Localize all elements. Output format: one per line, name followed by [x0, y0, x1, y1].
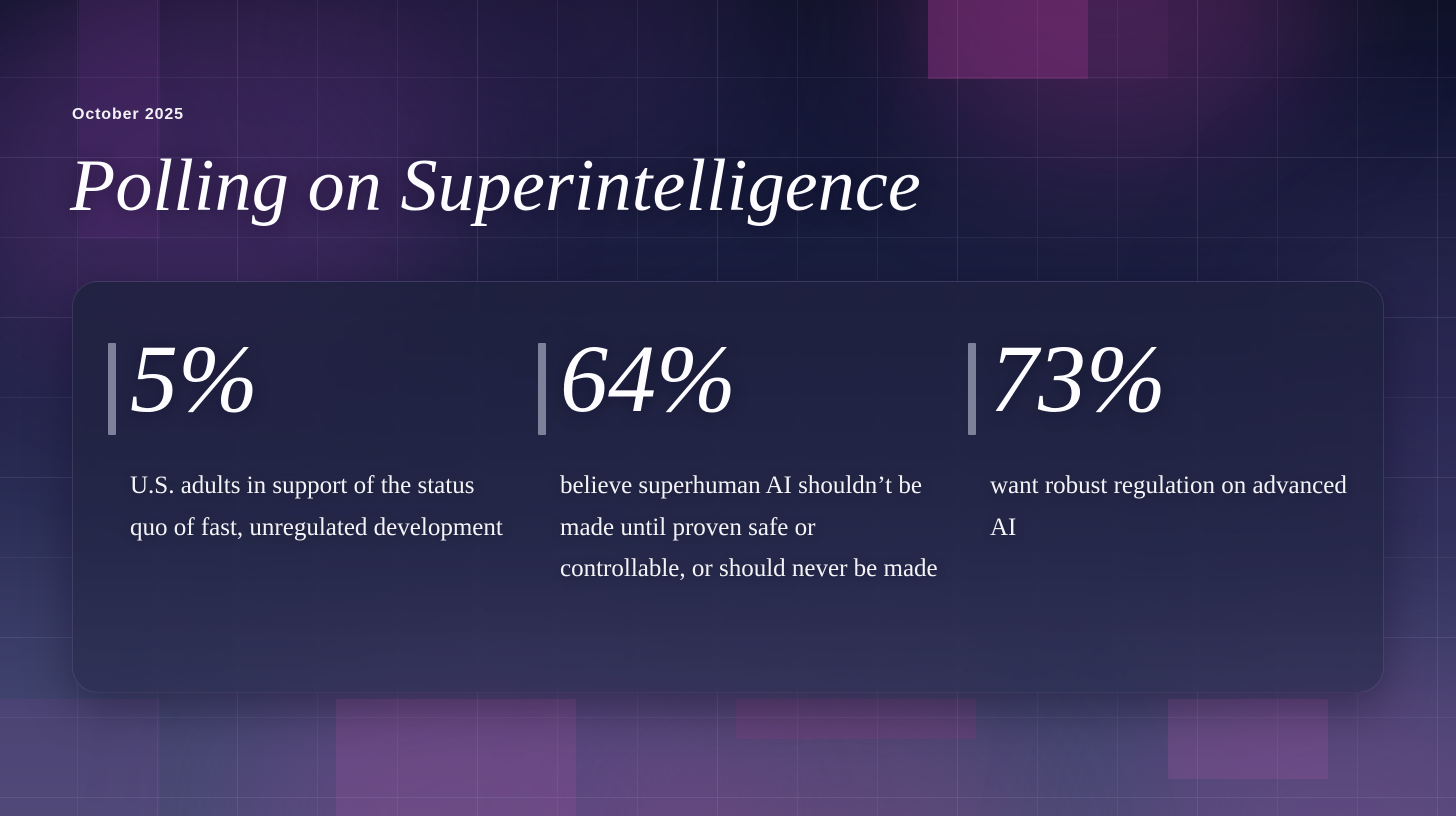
slide-content: October 2025 Polling on Superintelligenc…	[0, 0, 1456, 816]
stat-figure-row: 64%	[538, 333, 968, 435]
date-eyebrow: October 2025	[72, 106, 184, 124]
stat-block: 64% believe superhuman AI shouldn’t be m…	[538, 333, 968, 693]
page-title: Polling on Superintelligence	[70, 148, 921, 225]
stat-block: 5% U.S. adults in support of the status …	[108, 333, 538, 693]
stat-figure-row: 5%	[108, 333, 538, 435]
infographic-slide: October 2025 Polling on Superintelligenc…	[0, 0, 1456, 816]
stats-row: 5% U.S. adults in support of the status …	[72, 281, 1384, 693]
accent-bar-icon	[538, 343, 546, 435]
stat-description: want robust regulation on advanced AI	[990, 465, 1360, 548]
accent-bar-icon	[108, 343, 116, 435]
stat-block: 73% want robust regulation on advanced A…	[968, 333, 1380, 693]
stat-figure: 73%	[990, 333, 1166, 425]
stat-description: believe superhuman AI shouldn’t be made …	[560, 465, 942, 590]
stat-figure: 5%	[130, 333, 258, 425]
stat-figure: 64%	[560, 333, 736, 425]
stat-figure-row: 73%	[968, 333, 1380, 435]
stat-description: U.S. adults in support of the status quo…	[130, 465, 512, 548]
accent-bar-icon	[968, 343, 976, 435]
